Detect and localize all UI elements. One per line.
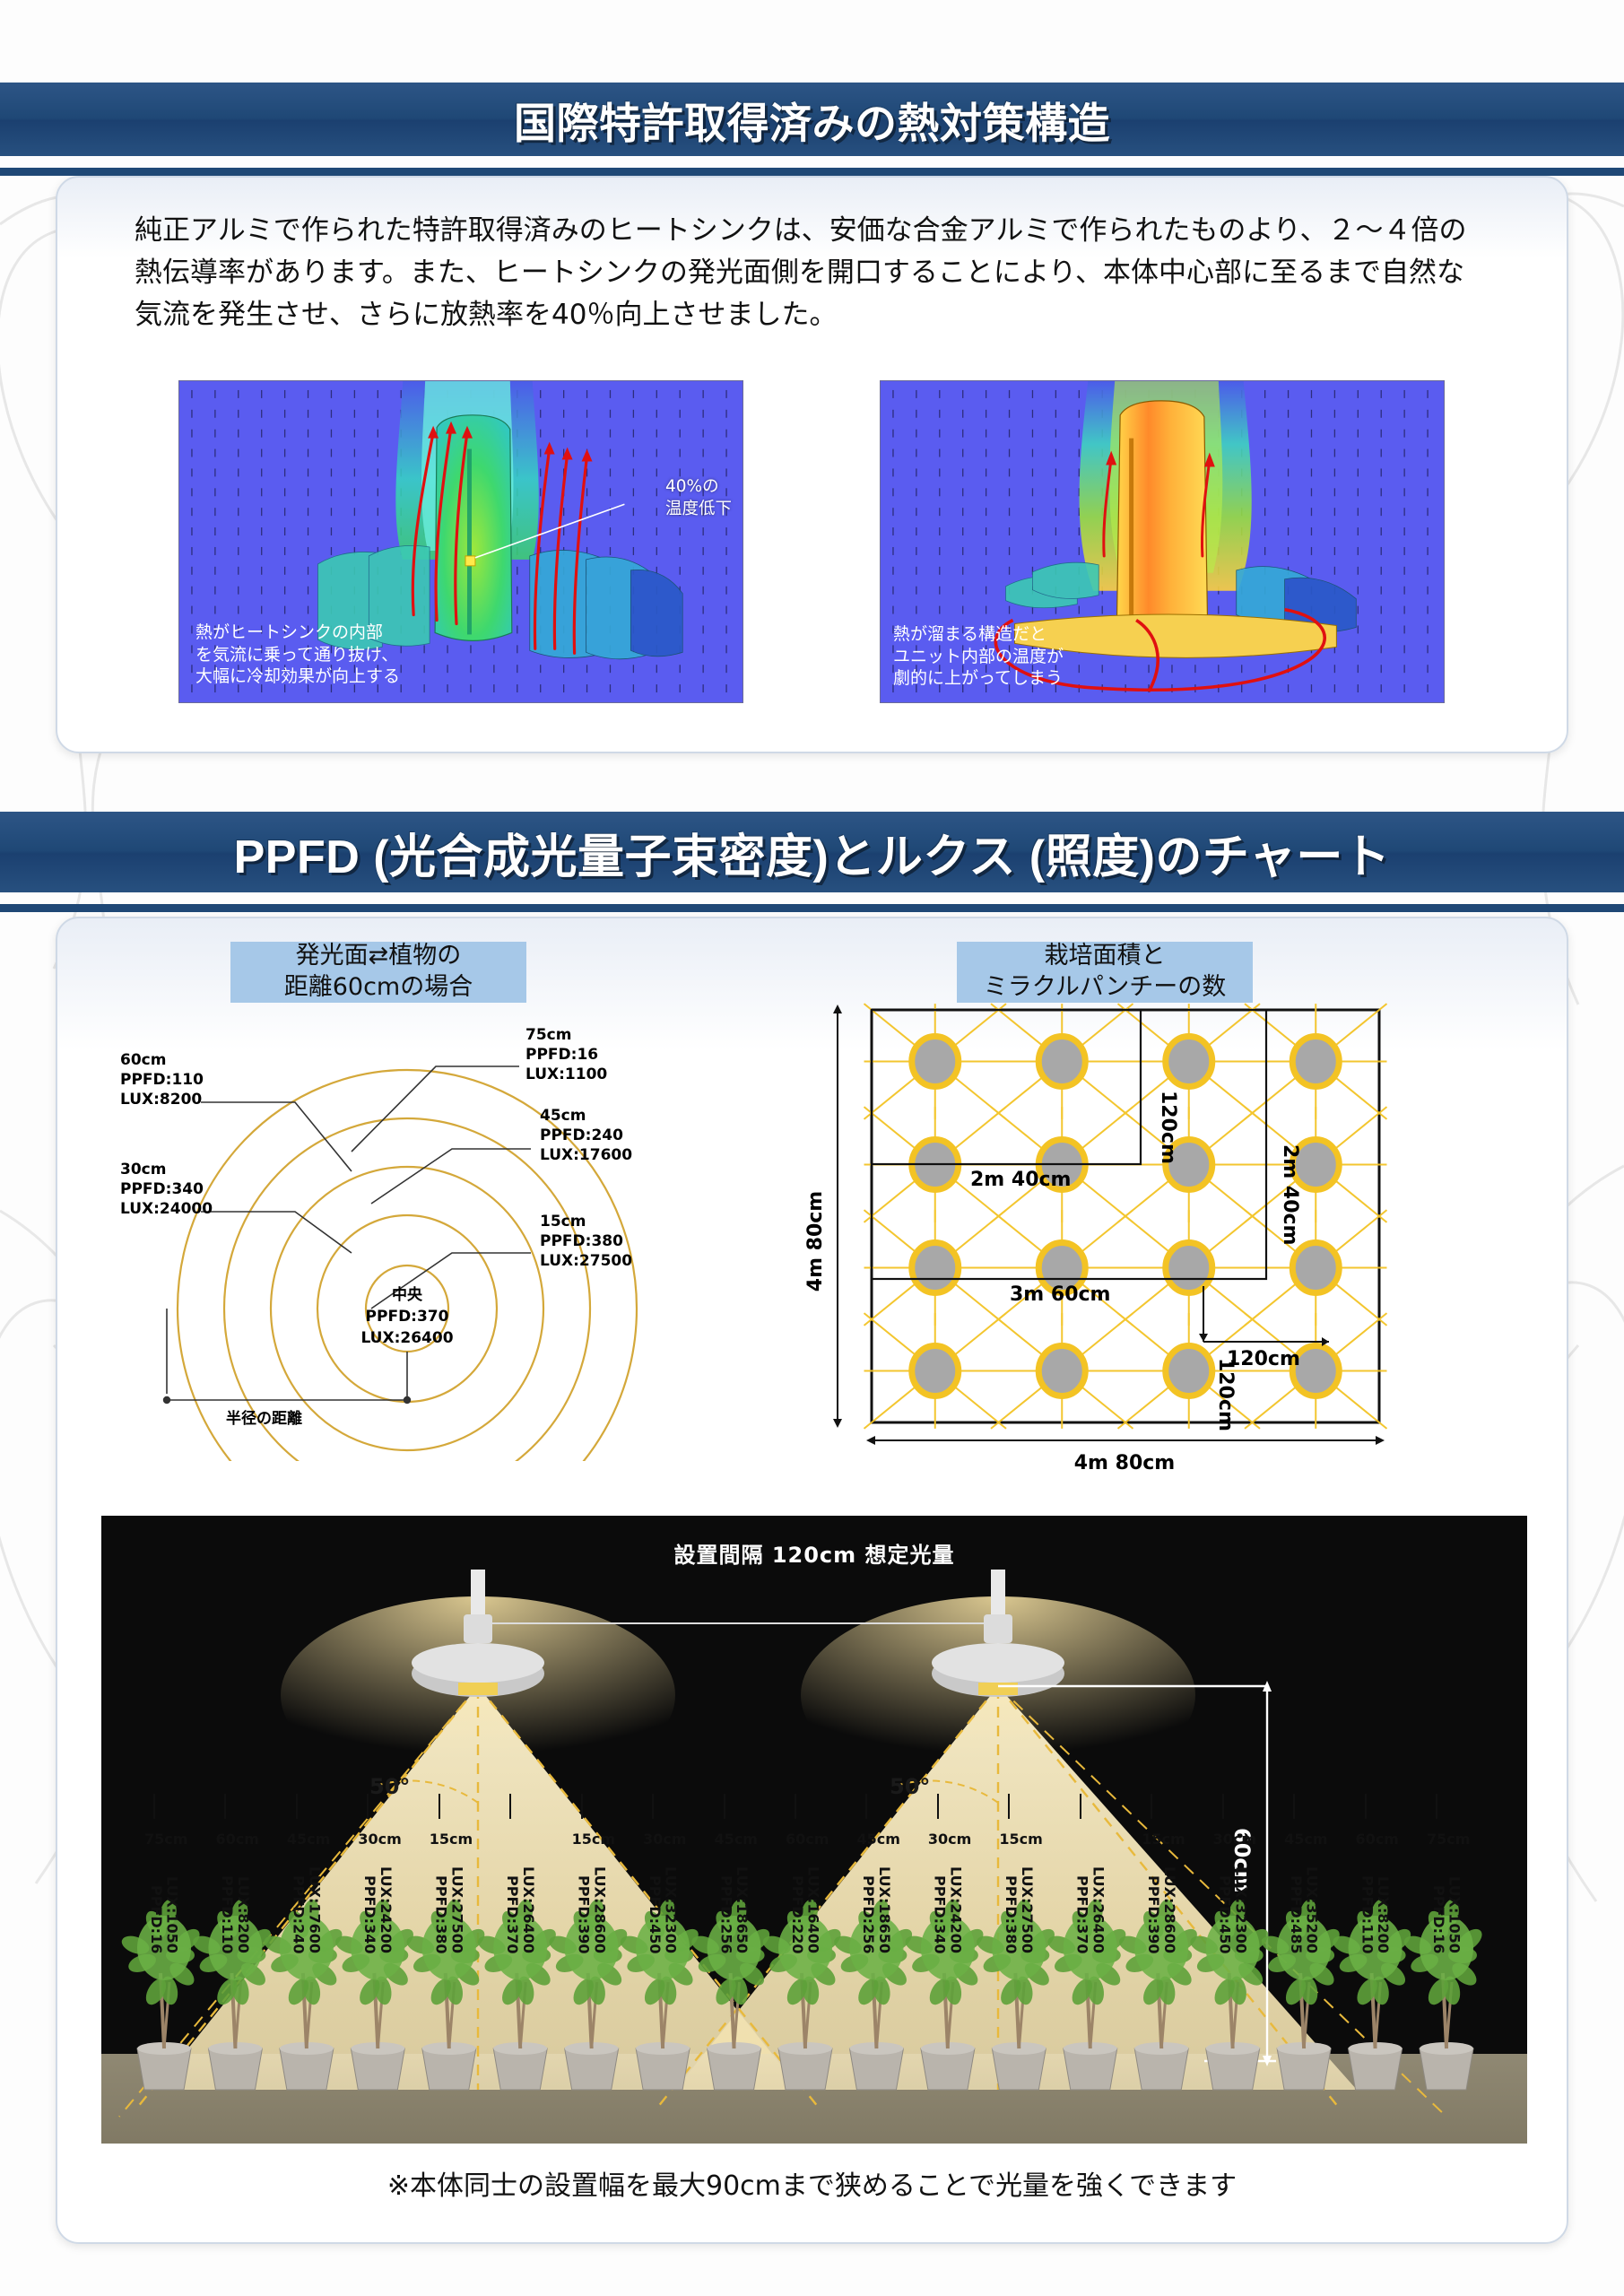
measurement-stem	[1365, 1794, 1367, 1819]
svg-text:LUX:24000: LUX:24000	[120, 1200, 213, 1218]
measurement-stem	[1008, 1794, 1010, 1819]
plant-lux-value: LUX:26400	[1090, 1866, 1106, 1953]
plant-distance-label: 45cm	[715, 1831, 758, 1848]
plant-lux-value: LUX:24200	[948, 1866, 963, 1953]
measurement-stem	[1080, 1794, 1081, 1819]
plant-distance-label: 30cm	[643, 1831, 686, 1848]
measurement-stem	[367, 1794, 369, 1819]
thermal-left-caption: 熱がヒートシンクの内部 を気流に乗って通り抜け、 大幅に冷却効果が向上する	[195, 622, 400, 688]
measurement-stem	[1222, 1794, 1224, 1819]
plant-lux-value: LUX:17600	[307, 1866, 322, 1953]
plant-ppfd-value: PPFD:110	[1359, 1875, 1375, 1953]
plant-reading: 15cmPPFD:390LUX:28600	[576, 1866, 607, 1953]
svg-text:LUX:17600: LUX:17600	[540, 1146, 632, 1164]
measurement-stem	[296, 1794, 298, 1819]
plant-lux-value: LUX:32300	[663, 1866, 678, 1953]
svg-text:60cm: 60cm	[120, 1051, 166, 1069]
plant-distance-label: 30cm	[928, 1831, 971, 1848]
svg-text:LUX:26400: LUX:26400	[360, 1329, 453, 1347]
plant-ppfd-value: PPFD:110	[219, 1875, 234, 1953]
plant-lux-value: LUX:16400	[805, 1866, 821, 1953]
svg-text:PPFD:16: PPFD:16	[525, 1046, 598, 1064]
plant-reading: 75cmPPFD:16LUX:1050	[1430, 1876, 1462, 1953]
plant-lux-value: LUX:18650	[876, 1866, 891, 1953]
plant-distance-label: 45cm	[856, 1831, 899, 1848]
ring-label-75cm: 75cm PPFD:16 LUX:1100	[525, 1026, 607, 1083]
plant-lux-value: LUX:28600	[1161, 1866, 1177, 1953]
plant-distance-label: 15cm	[430, 1831, 473, 1848]
section-1-title: 国際特許取得済みの熱対策構造	[514, 89, 1110, 151]
lamp-node	[1166, 1037, 1212, 1087]
svg-text:75cm: 75cm	[525, 1026, 571, 1044]
plant-distance-label: 15cm	[572, 1831, 615, 1848]
ring-label-60cm: 60cm PPFD:110 LUX:8200	[120, 1051, 204, 1109]
plant-lux-value: LUX:32300	[1232, 1866, 1247, 1953]
plant-lux-value: LUX:27500	[1019, 1866, 1034, 1953]
plant-distance-label: 30cm	[358, 1831, 401, 1848]
plant-lux-value: LUX:28600	[591, 1866, 606, 1953]
section-2-banner: PPFD (光合成光量子束密度)とルクス (照度)のチャート	[0, 812, 1624, 892]
plant-reading: 15cmPPFD:390LUX:28600	[1145, 1866, 1177, 1953]
svg-text:中央: 中央	[392, 1285, 423, 1304]
plant-ppfd-value: PPFD:370	[504, 1875, 519, 1953]
svg-text:45cm: 45cm	[540, 1107, 586, 1125]
measurement-stem	[439, 1794, 440, 1819]
grow-area-grid-diagram: 2m 40cm 3m 60cm 120cm 2m 40cm 120cm 120c…	[802, 990, 1429, 1474]
plant-reading: 30cmPPFD:340LUX:24200	[361, 1866, 393, 1953]
svg-text:PPFD:380: PPFD:380	[540, 1232, 623, 1250]
subtitle-distance-60cm-text: 発光面⇄植物の 距離60cmの場合	[284, 941, 473, 1003]
banner-1-rule	[0, 168, 1624, 176]
svg-text:LUX:8200: LUX:8200	[120, 1091, 202, 1109]
plant-ppfd-value: PPFD:380	[1003, 1875, 1018, 1953]
footnote-text: ※本体同士の設置幅を最大90cmまで狭めることで光量を強くできます	[57, 2163, 1567, 2203]
ring-label-30cm: 30cm PPFD:340 LUX:24000	[120, 1161, 213, 1218]
plant-ppfd-value: PPFD:16	[1430, 1885, 1446, 1953]
plant-reading: 15cmPPFD:380LUX:27500	[433, 1866, 465, 1953]
lamp-node	[1038, 1037, 1085, 1087]
measurement-stem	[652, 1794, 654, 1819]
section-2-title: PPFD (光合成光量子束密度)とルクス (照度)のチャート	[234, 819, 1391, 886]
plant-distance-label: 60cm	[786, 1831, 829, 1848]
radius-distance-label: 半径の距離	[226, 1409, 302, 1428]
measurement-stem	[724, 1794, 725, 1819]
ppfd-concentric-rings-chart: 75cm PPFD:16 LUX:1100 60cm PPFD:110 LUX:…	[111, 1013, 793, 1461]
plant-ppfd-value: PPFD:390	[1145, 1875, 1160, 1953]
plant-distance-label: 60cm	[1356, 1831, 1399, 1848]
thermal-simulation-closed-heatsink: 熱が溜まる構造だと ユニット内部の温度が 劇的に上がってしまう	[880, 380, 1445, 703]
plant-ppfd-value: PPFD:220	[789, 1875, 804, 1953]
plant-reading: 45cmPPFD:485LUX:35200	[1288, 1866, 1319, 1953]
plant-ppfd-value: PPFD:256	[860, 1875, 875, 1953]
plant-ppfd-value: PPFD:340	[932, 1875, 947, 1953]
plant-lux-value: LUX:1050	[1446, 1876, 1462, 1953]
ring-label-45cm: 45cm PPFD:240 LUX:17600	[540, 1107, 632, 1164]
ring-label-center: 中央 PPFD:370 LUX:26400	[360, 1285, 453, 1347]
thermal-simulation-open-heatsink: 40%の 温度低下 熱がヒートシンクの内部 を気流に乗って通り抜け、 大幅に冷却…	[178, 380, 743, 703]
lamp-node	[1292, 1243, 1339, 1293]
measurement-stem	[509, 1794, 511, 1819]
plant-ppfd-value: PPFD:485	[1288, 1875, 1303, 1953]
plant-distance-label: 75cm	[144, 1831, 187, 1848]
dim-4m80cm-horizontal: 4m 80cm	[1074, 1452, 1175, 1474]
thermal-left-callout: 40%の 温度低下	[665, 476, 732, 521]
measurement-stem	[224, 1794, 226, 1819]
measurement-stem	[153, 1794, 155, 1819]
subtitle-distance-60cm: 発光面⇄植物の 距離60cmの場合	[230, 942, 526, 1003]
plant-distance-label: 60cm	[215, 1831, 258, 1848]
plant-reading: 30cmPPFD:450LUX:32300	[1217, 1866, 1248, 1953]
heat-structure-paragraph: 純正アルミで作られた特許取得済みのヒートシンクは、安価な合金アルミで作られたもの…	[135, 210, 1489, 336]
plant-ppfd-value: PPFD:380	[433, 1875, 448, 1953]
measurement-stem	[865, 1794, 867, 1819]
measurement-stem	[1436, 1794, 1437, 1819]
plant-reading: 60cmPPFD:110LUX:8200	[1359, 1875, 1391, 1953]
plant-lux-value: LUX:1050	[164, 1876, 179, 1953]
plant-ppfd-value: PPFD:450	[1217, 1875, 1232, 1953]
plant-reading: 60cmPPFD:110LUX:8200	[219, 1875, 250, 1953]
svg-text:PPFD:110: PPFD:110	[120, 1071, 204, 1089]
plant-reading: 45cmPPFD:240LUX:17600	[291, 1866, 322, 1953]
measurement-stem	[795, 1794, 796, 1819]
lamp-node	[1038, 1346, 1085, 1396]
plant-lux-value: LUX:8200	[235, 1876, 250, 1953]
plant-lux-value: LUX:8200	[1375, 1876, 1390, 1953]
light-coverage-photo: 設置間隔 120cm 想定光量 50° 50° 60cm 75cmPPFD:16…	[101, 1516, 1527, 2144]
thermal-right-caption: 熱が溜まる構造だと ユニット内部の温度が 劇的に上がってしまう	[893, 623, 1064, 690]
lamp-node	[912, 1037, 959, 1087]
plant-reading: PPFD:370LUX:26400	[504, 1866, 535, 1953]
svg-text:PPFD:370: PPFD:370	[366, 1308, 449, 1326]
dim-120cm-top: 120cm	[1157, 1091, 1179, 1164]
plant-ppfd-value: PPFD:370	[1074, 1875, 1090, 1953]
lamp-node	[1166, 1346, 1212, 1396]
plant-ppfd-label-layer: 75cmPPFD:16LUX:105060cmPPFD:110LUX:82004…	[101, 1516, 1527, 2144]
plant-lux-value: LUX:18650	[734, 1866, 749, 1953]
svg-text:15cm: 15cm	[540, 1213, 586, 1231]
plant-distance-label: 45cm	[1284, 1831, 1327, 1848]
plant-ppfd-value: PPFD:450	[647, 1875, 662, 1953]
measurement-stem	[937, 1794, 939, 1819]
lamp-node	[912, 1346, 959, 1396]
dim-3m60cm: 3m 60cm	[1010, 1283, 1110, 1306]
plant-ppfd-value: PPFD:340	[361, 1875, 377, 1953]
dim-2m40cm-vertical: 2m 40cm	[1279, 1144, 1301, 1245]
plant-reading: 45cmPPFD:256LUX:18650	[860, 1866, 891, 1953]
plant-ppfd-value: PPFD:390	[576, 1875, 591, 1953]
plant-ppfd-value: PPFD:240	[291, 1875, 306, 1953]
dim-4m80cm-vertical: 4m 80cm	[804, 1191, 827, 1291]
plant-reading: 60cmPPFD:220LUX:16400	[789, 1866, 821, 1953]
plant-reading: PPFD:370LUX:26400	[1074, 1866, 1106, 1953]
plant-distance-label: 75cm	[1427, 1831, 1470, 1848]
plant-distance-label: 30cm	[1213, 1831, 1256, 1848]
plant-distance-label: 45cm	[287, 1831, 330, 1848]
plant-reading: 30cmPPFD:340LUX:24200	[932, 1866, 963, 1953]
plant-reading: 45cmPPFD:256LUX:18650	[718, 1866, 750, 1953]
svg-text:30cm: 30cm	[120, 1161, 166, 1178]
svg-text:PPFD:240: PPFD:240	[540, 1126, 623, 1144]
dim-120cm-horizontal: 120cm	[1227, 1348, 1300, 1370]
banner-2-rule	[0, 904, 1624, 912]
dim-2m40cm-horizontal: 2m 40cm	[970, 1169, 1071, 1191]
plant-lux-value: LUX:27500	[449, 1866, 465, 1953]
ring-label-15cm: 15cm PPFD:380 LUX:27500	[540, 1213, 632, 1270]
lamp-node	[912, 1243, 959, 1293]
ppfd-chart-card: 発光面⇄植物の 距離60cmの場合 栽培面積と ミラクルパンチーの数	[56, 917, 1568, 2244]
plant-distance-label: 15cm	[999, 1831, 1042, 1848]
measurement-stem	[581, 1794, 583, 1819]
svg-text:LUX:1100: LUX:1100	[525, 1065, 607, 1083]
plant-reading: 15cmPPFD:380LUX:27500	[1003, 1866, 1034, 1953]
lamp-node	[1292, 1037, 1339, 1087]
plant-reading: 30cmPPFD:450LUX:32300	[647, 1866, 678, 1953]
measurement-stem	[1151, 1794, 1152, 1819]
plant-lux-value: LUX:24200	[378, 1866, 393, 1953]
lamp-node	[1166, 1243, 1212, 1293]
plant-lux-value: LUX:35200	[1304, 1866, 1319, 1953]
plant-lux-value: LUX:26400	[520, 1866, 535, 1953]
measurement-stem	[1293, 1794, 1295, 1819]
section-1-banner: 国際特許取得済みの熱対策構造	[0, 83, 1624, 156]
heat-structure-card: 純正アルミで作られた特許取得済みのヒートシンクは、安価な合金アルミで作られたもの…	[56, 176, 1568, 753]
svg-text:LUX:27500: LUX:27500	[540, 1252, 632, 1270]
plant-distance-label: 15cm	[1142, 1831, 1185, 1848]
plant-ppfd-value: PPFD:256	[718, 1875, 734, 1953]
plant-reading: 75cmPPFD:16LUX:1050	[148, 1876, 179, 1953]
svg-text:PPFD:340: PPFD:340	[120, 1180, 204, 1198]
plant-ppfd-value: PPFD:16	[148, 1885, 163, 1953]
